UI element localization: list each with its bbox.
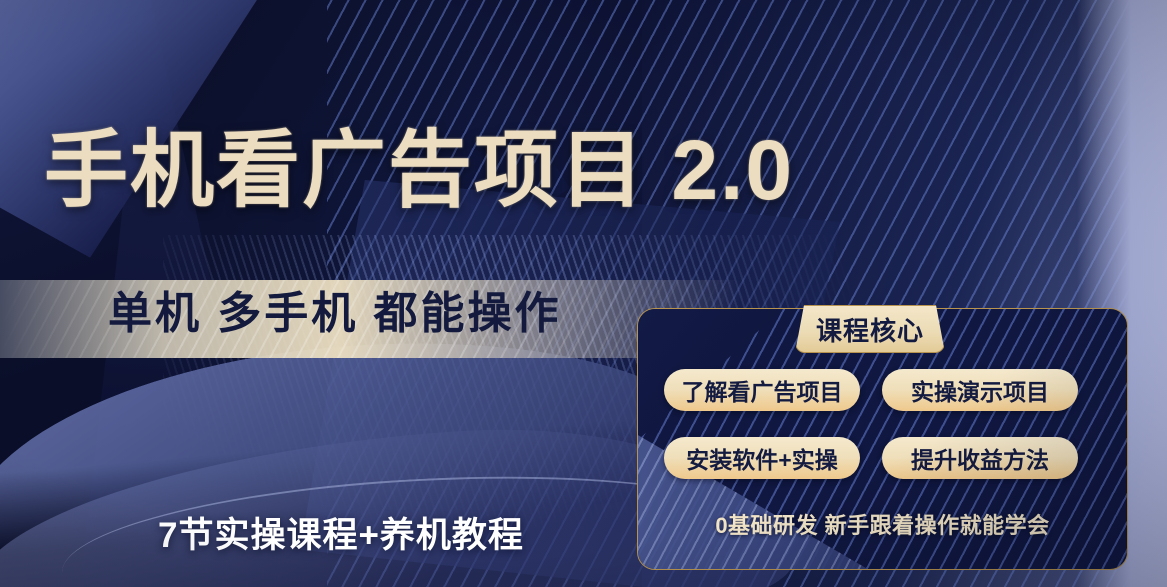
feature-row-1: 了解看广告项目 实操演示项目 — [664, 369, 1114, 411]
subtitle: 单机 多手机 都能操作 — [108, 292, 561, 336]
feature-pill-3[interactable]: 安装软件+实操 — [664, 437, 860, 479]
feature-pill-1[interactable]: 了解看广告项目 — [664, 369, 860, 411]
feature-pill-2[interactable]: 实操演示项目 — [882, 369, 1078, 411]
core-card-footer: 0基础研发 新手跟着操作就能学会 — [637, 508, 1128, 540]
core-card-header-banner: 课程核心 — [795, 305, 945, 353]
page-title: 手机看广告项目 2.0 — [44, 128, 794, 212]
feature-row-2: 安装软件+实操 提升收益方法 — [664, 437, 1114, 479]
promo-banner: 手机看广告项目 2.0 单机 多手机 都能操作 7节实操课程+养机教程 课程核心… — [0, 0, 1167, 587]
feature-pill-4[interactable]: 提升收益方法 — [882, 437, 1078, 479]
course-count-note: 7节实操课程+养机教程 — [158, 518, 524, 553]
